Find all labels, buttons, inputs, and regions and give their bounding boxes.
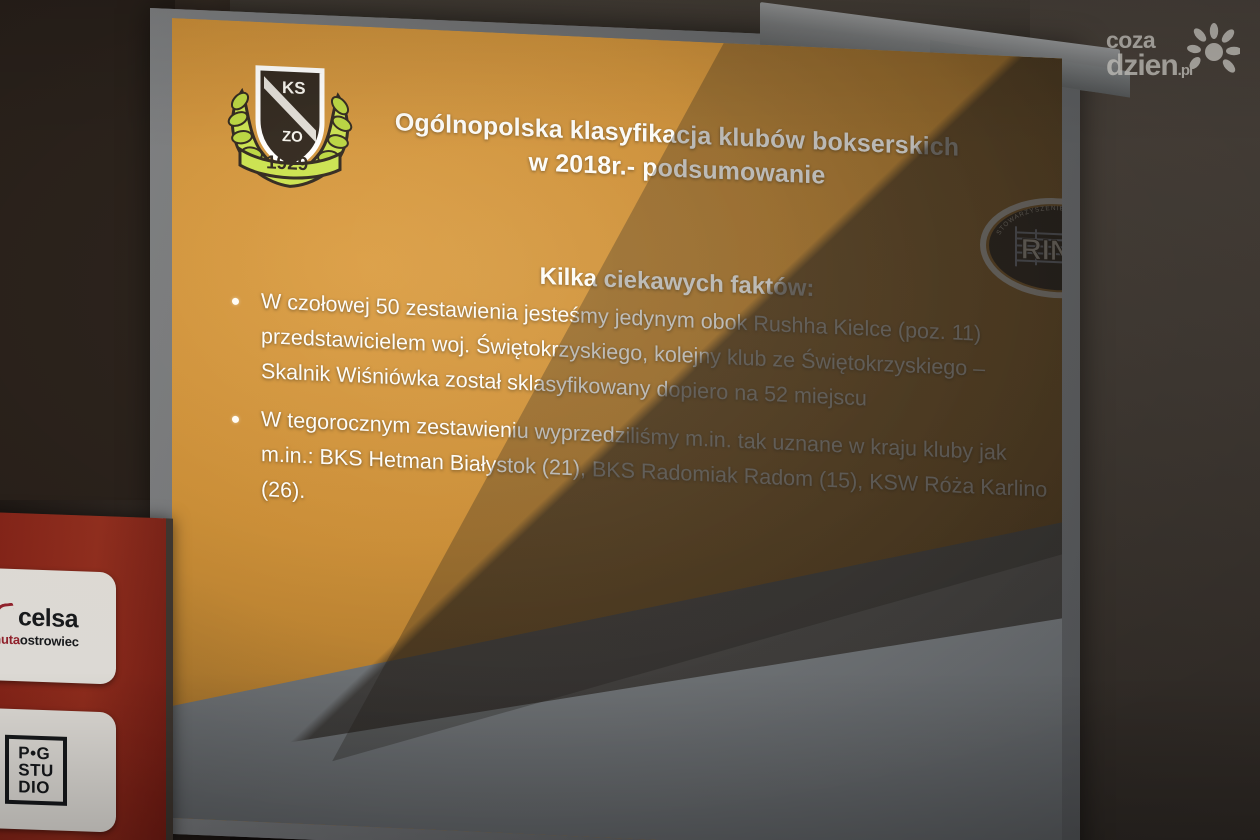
celsa-ostrowiec-text: ostrowiec [20, 632, 79, 649]
celsa-huta-ostrowiec-logo-icon: celsa hutaostrowiec [0, 602, 79, 649]
photo-scene: KS ZO 1929 RIN [0, 0, 1260, 840]
bullet-dot-icon [232, 416, 239, 423]
crest-zo-text: ZO [282, 128, 303, 146]
ks-zo-1929-crest-icon: KS ZO 1929 [220, 52, 360, 196]
watermark-text: coza dzien.pl [1106, 30, 1192, 80]
sponsor-card-pg-studio: P•G STU DIO [0, 706, 116, 832]
pg-studio-logo-icon: P•G STU DIO [5, 734, 67, 805]
celsa-flame-icon [0, 603, 17, 632]
celsa-huta-text: huta [0, 631, 20, 647]
celsa-wordmark: celsa [18, 603, 78, 634]
bullet-dot-icon [232, 298, 239, 305]
watermark-cozadzien: coza dzien.pl [1104, 16, 1242, 90]
wall-dark-corner [0, 0, 175, 520]
projected-slide: KS ZO 1929 RIN [172, 18, 1062, 840]
sponsor-board: celsa hutaostrowiec P•G STU DIO [0, 512, 173, 840]
sun-burst-icon [1184, 22, 1240, 78]
celsa-subline: hutaostrowiec [0, 631, 79, 649]
sponsor-card-celsa: celsa hutaostrowiec [0, 566, 116, 684]
watermark-dzien-text: dzien [1106, 49, 1178, 82]
crest-year-text: 1929 [266, 152, 308, 175]
pg-line-3: DIO [18, 778, 54, 796]
crest-ks-text: KS [282, 78, 306, 98]
watermark-line-2: dzien.pl [1106, 52, 1192, 81]
